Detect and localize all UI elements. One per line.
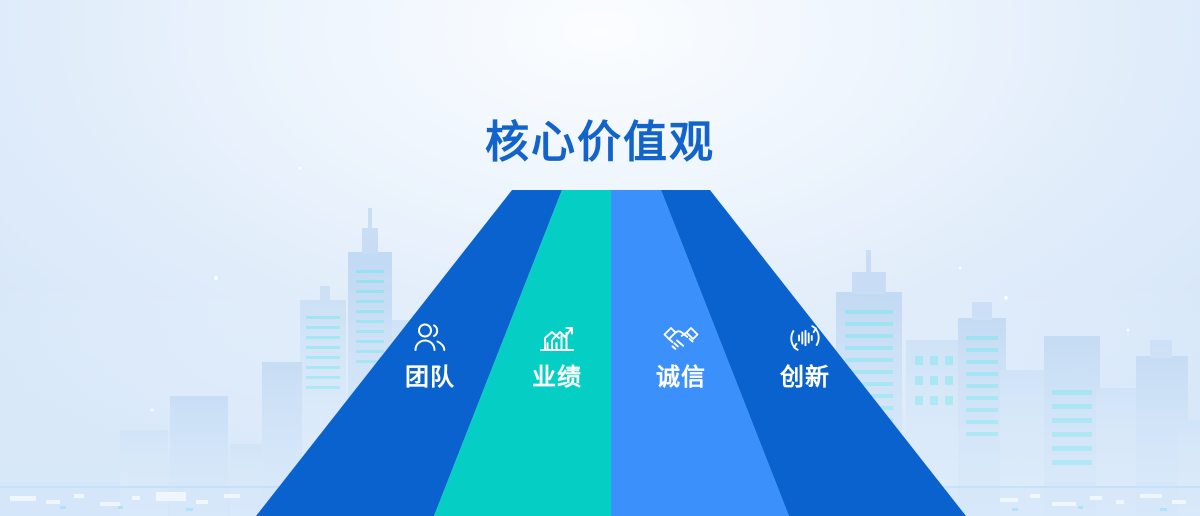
value-item-performance[interactable]: 业绩: [497, 318, 617, 390]
handshake-icon: [661, 318, 701, 358]
page-title: 核心价值观: [0, 106, 1200, 170]
value-item-innovation[interactable]: 创新: [745, 318, 865, 390]
value-item-team[interactable]: 团队: [370, 318, 490, 390]
core-values-banner: 核心价值观 团队: [0, 0, 1200, 516]
value-label-team: 团队: [405, 366, 455, 390]
innovation-refresh-icon: [785, 318, 825, 358]
values-segment-overlay: 团队 业绩: [0, 0, 1200, 516]
value-label-integrity: 诚信: [656, 366, 706, 390]
value-label-performance: 业绩: [532, 366, 582, 390]
team-people-icon: [410, 318, 450, 358]
value-label-innovation: 创新: [780, 366, 830, 390]
growth-bar-chart-icon: [537, 318, 577, 358]
value-item-integrity[interactable]: 诚信: [621, 318, 741, 390]
